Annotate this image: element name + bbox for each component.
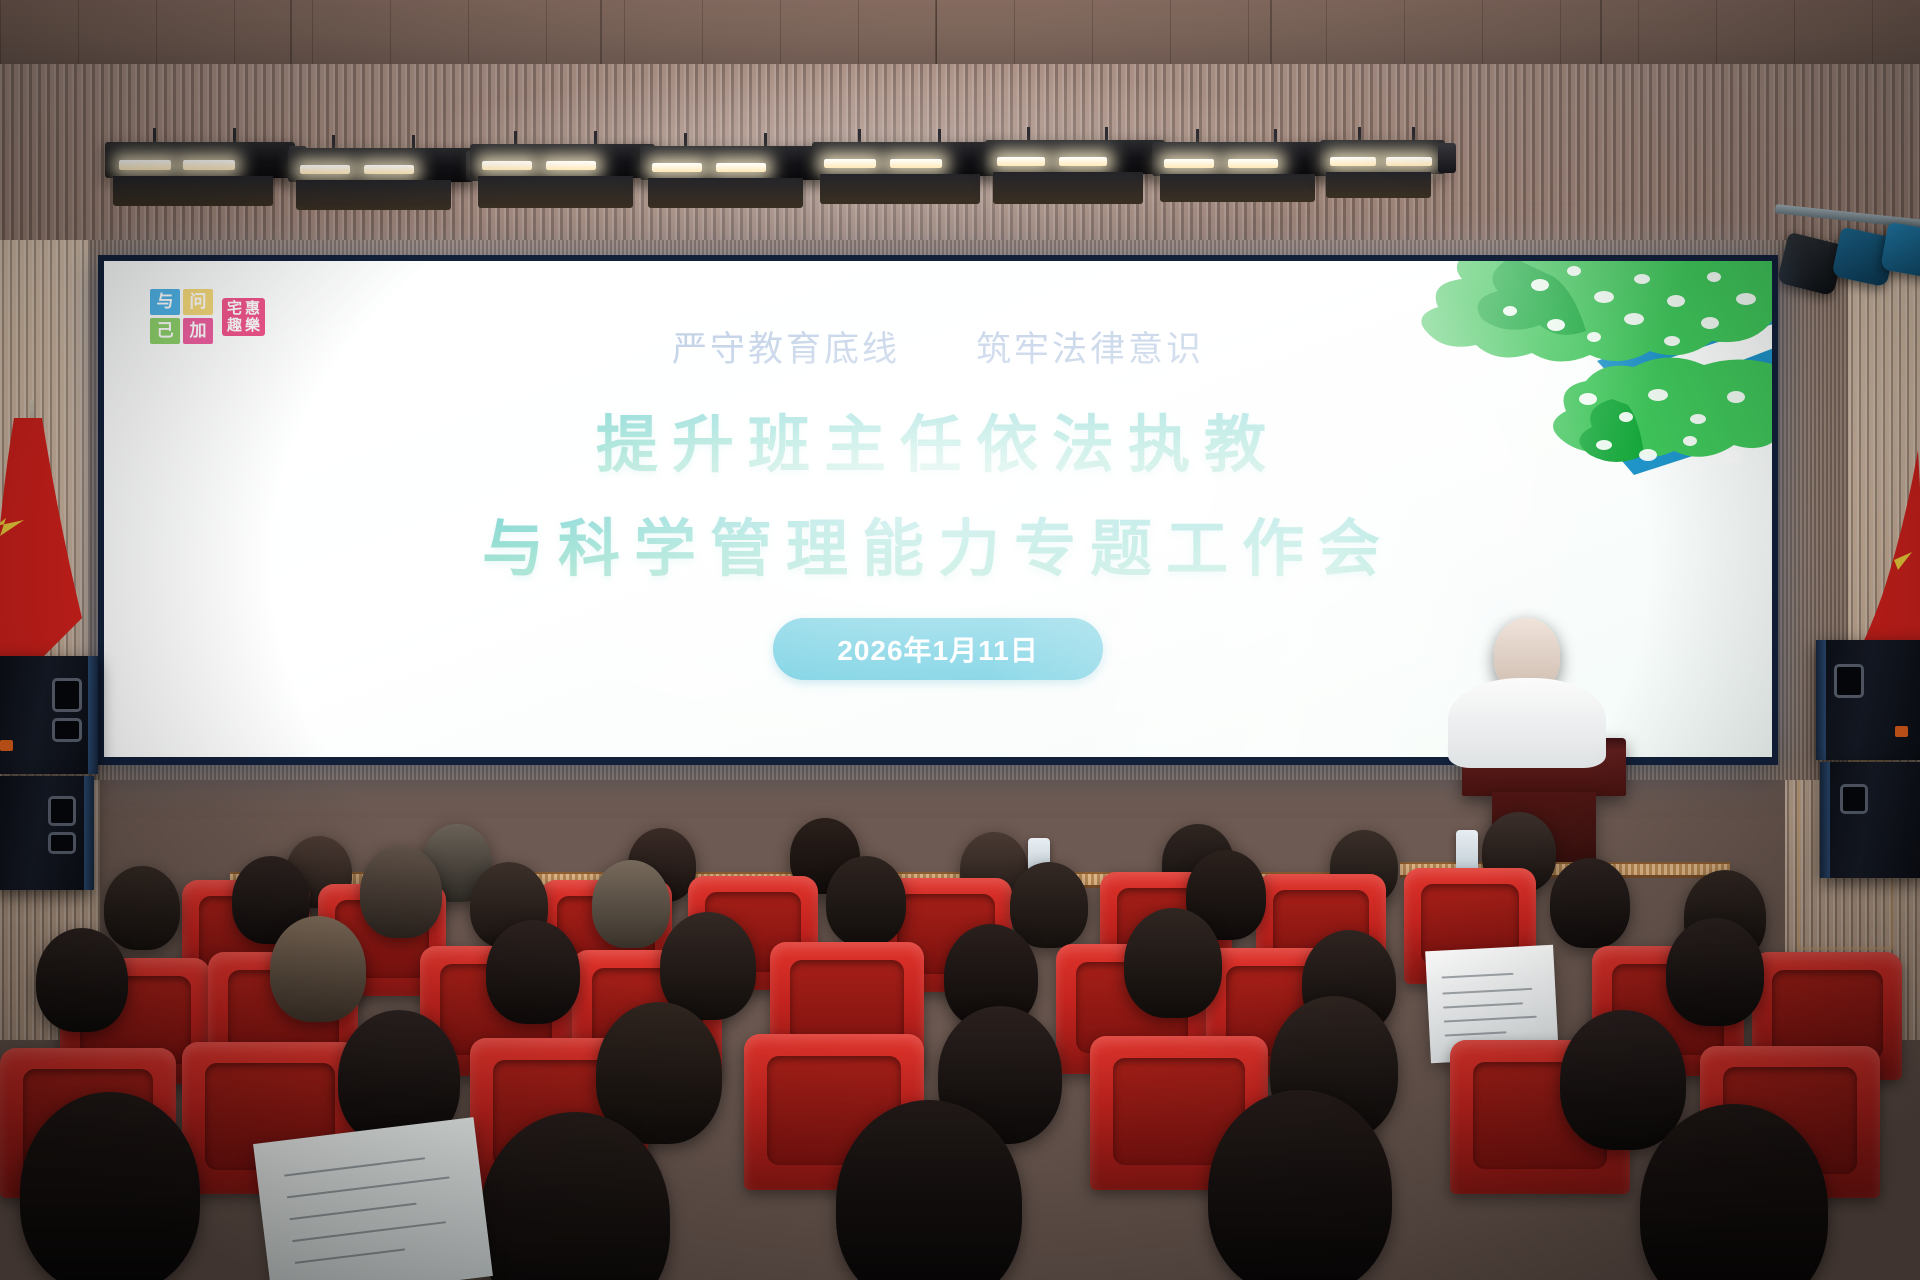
stage-light-bar — [288, 148, 473, 182]
lamp-icon — [364, 165, 414, 174]
lamp-icon — [716, 163, 766, 172]
logo-wordmark-char: 惠 — [245, 301, 260, 316]
stage-light-bar — [812, 142, 1002, 176]
stage-light-bar — [470, 144, 655, 178]
audience-head — [592, 860, 670, 948]
lamp-icon — [119, 160, 171, 170]
logo-wordmark-char: 宅 — [227, 301, 242, 316]
loudspeaker — [1816, 640, 1920, 760]
auditorium-photo: 与 问 己 加 宅 惠 趣 樂 严守教育底线 筑牢法律意识 提升班主任依法执教 … — [0, 0, 1920, 1280]
slide-date-badge: 2026年1月11日 — [773, 618, 1102, 680]
stage-light-bar — [1152, 142, 1337, 176]
presenter-body — [1448, 678, 1606, 768]
stage-light-bar — [1320, 140, 1445, 174]
slide-title-line-2: 与科学管理能力专题工作会 — [104, 498, 1772, 588]
loudspeaker — [0, 656, 98, 774]
lamp-icon — [652, 163, 702, 172]
logo-cell: 与 — [150, 289, 180, 315]
logo-cell: 问 — [183, 289, 213, 315]
stage-light-bar — [640, 146, 825, 180]
lamp-icon — [1386, 157, 1432, 166]
stage-light-bar — [105, 142, 295, 178]
audience-head — [1010, 862, 1088, 948]
lamp-icon — [890, 159, 942, 168]
loudspeaker — [0, 776, 94, 890]
audience-head — [486, 920, 580, 1024]
lamp-icon — [1330, 157, 1376, 166]
audience-head — [270, 916, 366, 1022]
stage-light-bar — [985, 140, 1165, 174]
audience-head — [1124, 908, 1222, 1018]
lamp-icon — [1164, 159, 1214, 168]
spotlight-fixture — [1880, 222, 1920, 278]
audience-head — [36, 928, 128, 1032]
audience-head — [1208, 1090, 1392, 1280]
lamp-icon — [824, 159, 876, 168]
audience-head — [1550, 858, 1630, 948]
lamp-icon — [1059, 157, 1107, 166]
lamp-icon — [482, 161, 532, 170]
slide-title-line-1: 提升班主任依法执教 — [104, 394, 1772, 484]
lamp-icon — [183, 160, 235, 170]
audience-head — [826, 856, 906, 946]
lamp-icon — [997, 157, 1045, 166]
audience-head — [104, 866, 180, 950]
lamp-icon — [546, 161, 596, 170]
audience-head — [1560, 1010, 1686, 1150]
audience-head — [360, 846, 442, 938]
ceiling — [0, 0, 1920, 66]
lamp-icon — [300, 165, 350, 174]
slide-subtitle: 严守教育底线 筑牢法律意识 — [104, 321, 1772, 372]
audience-head — [1666, 918, 1764, 1026]
loudspeaker — [1820, 762, 1920, 878]
handout-document — [253, 1117, 493, 1280]
audience-head — [20, 1092, 200, 1280]
lamp-icon — [1228, 159, 1278, 168]
